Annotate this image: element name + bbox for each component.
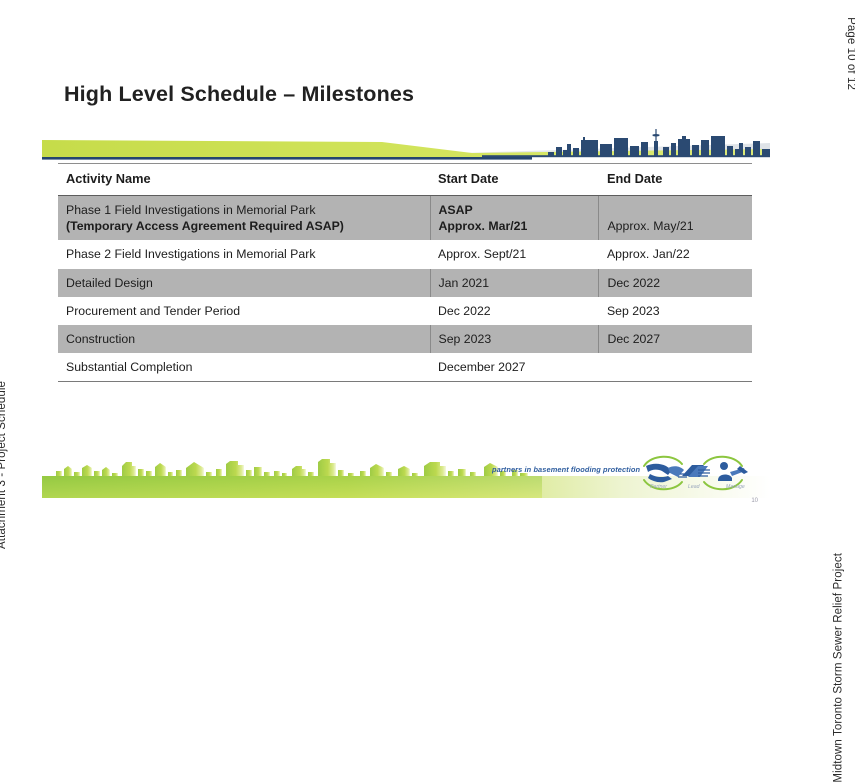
handshake-icon xyxy=(646,464,684,483)
logo-tagline: partners in basement flooding protection xyxy=(492,465,641,474)
cell-start-date: Jan 2021 xyxy=(430,269,599,297)
worker-icon xyxy=(718,462,748,481)
table-row[interactable]: Construction Sep 2023 Dec 2027 xyxy=(58,325,752,353)
table-header-row: Activity Name Start Date End Date xyxy=(58,164,752,196)
table-row[interactable]: Phase 2 Field Investigations in Memorial… xyxy=(58,240,752,268)
activity-line-1: Phase 1 Field Investigations in Memorial… xyxy=(66,202,430,218)
cell-start-date: Approx. Sept/21 xyxy=(430,240,599,268)
project-name-label: Midtown Toronto Storm Sewer Relief Proje… xyxy=(833,553,845,783)
attachment-label: Attachment 3 - Project Schedule xyxy=(0,381,8,549)
schedule-table: Activity Name Start Date End Date Phase … xyxy=(58,163,752,382)
green-ground-overlay xyxy=(42,476,542,498)
cell-activity: Procurement and Tender Period xyxy=(58,297,430,325)
table-row[interactable]: Procurement and Tender Period Dec 2022 S… xyxy=(58,297,752,325)
page-title: High Level Schedule – Milestones xyxy=(64,82,414,107)
cell-end-date: Dec 2022 xyxy=(599,269,752,297)
table-row[interactable]: Phase 1 Field Investigations in Memorial… xyxy=(58,195,752,240)
houses-silhouette-icon xyxy=(56,459,528,476)
cell-end-date: Sep 2023 xyxy=(599,297,752,325)
cell-start-date: ASAP Approx. Mar/21 xyxy=(430,195,599,240)
cell-start-date: Sep 2023 xyxy=(430,325,599,353)
column-header-start-date: Start Date xyxy=(430,164,599,196)
header-skyline-banner xyxy=(42,127,770,163)
logo-label-partner: Partner xyxy=(650,484,667,490)
start-line-1: ASAP xyxy=(439,202,599,218)
cell-activity: Phase 2 Field Investigations in Memorial… xyxy=(58,240,430,268)
column-header-activity: Activity Name xyxy=(58,164,430,196)
start-line-2: Approx. Mar/21 xyxy=(439,218,599,234)
cell-start-date: Dec 2022 xyxy=(430,297,599,325)
cell-activity: Construction xyxy=(58,325,430,353)
activity-line-2: (Temporary Access Agreement Required ASA… xyxy=(66,218,430,234)
cell-end-date xyxy=(599,353,752,382)
table-header: Activity Name Start Date End Date xyxy=(58,164,752,196)
table-row[interactable]: Detailed Design Jan 2021 Dec 2022 xyxy=(58,269,752,297)
cell-end-date: Approx. May/21 xyxy=(599,195,752,240)
cell-start-date: December 2027 xyxy=(430,353,599,382)
logo-label-manage: Manage xyxy=(726,484,745,490)
slide-number: 10 xyxy=(751,498,758,504)
navy-rule xyxy=(42,157,532,160)
cell-end-date: Dec 2027 xyxy=(599,325,752,353)
table-row[interactable]: Substantial Completion December 2027 xyxy=(58,353,752,382)
logo-label-lead: Lead xyxy=(688,484,701,490)
cell-end-date: Approx. Jan/22 xyxy=(599,240,752,268)
table-body: Phase 1 Field Investigations in Memorial… xyxy=(58,195,752,382)
column-header-end-date: End Date xyxy=(599,164,752,196)
page-number-label: Page 10 of 12 xyxy=(845,17,855,90)
slide-canvas: High Level Schedule – Milestones xyxy=(42,60,770,510)
cell-activity: Phase 1 Field Investigations in Memorial… xyxy=(58,195,430,240)
program-logo: partners in basement flooding protection… xyxy=(492,450,762,496)
cell-activity: Substantial Completion xyxy=(58,353,430,382)
cell-activity: Detailed Design xyxy=(58,269,430,297)
